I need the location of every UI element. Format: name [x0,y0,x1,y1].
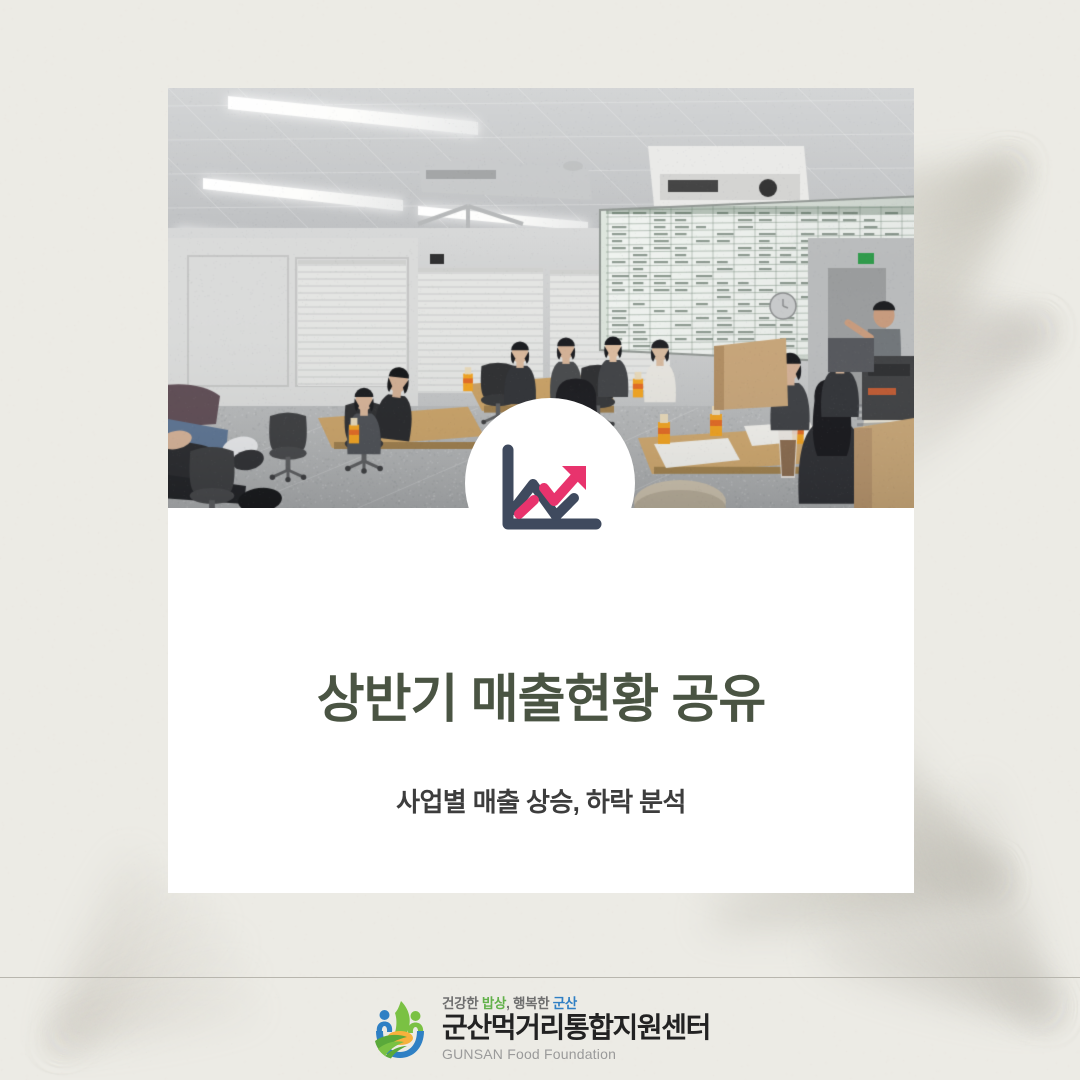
footer-branding: 건강한 밥상, 행복한 군산 군산먹거리통합지원센터 GUNSAN Food F… [0,978,1080,1080]
brand-text-block: 건강한 밥상, 행복한 군산 군산먹거리통합지원센터 GUNSAN Food F… [442,997,710,1062]
tagline-highlight-bapsang: 밥상 [482,996,506,1011]
brand-tagline: 건강한 밥상, 행복한 군산 [442,997,710,1011]
gunsan-food-foundation-logo-icon [370,998,430,1060]
page-title: 상반기 매출현황 공유 [168,670,914,731]
page-subtitle: 사업별 매출 상승, 하락 분석 [168,786,914,820]
tagline-middle: , 행복한 [506,996,553,1011]
poster-card: 상반기 매출현황 공유 사업별 매출 상승, 하락 분석 [168,88,914,893]
brand-name-english: GUNSAN Food Foundation [442,1047,710,1061]
brand-name: 군산먹거리통합지원센터 [442,1014,710,1042]
tagline-highlight-gunsan: 군산 [553,996,577,1011]
tagline-prefix: 건강한 [442,996,482,1011]
chart-icon-badge [465,398,635,568]
line-chart-up-arrow-icon [496,444,604,536]
